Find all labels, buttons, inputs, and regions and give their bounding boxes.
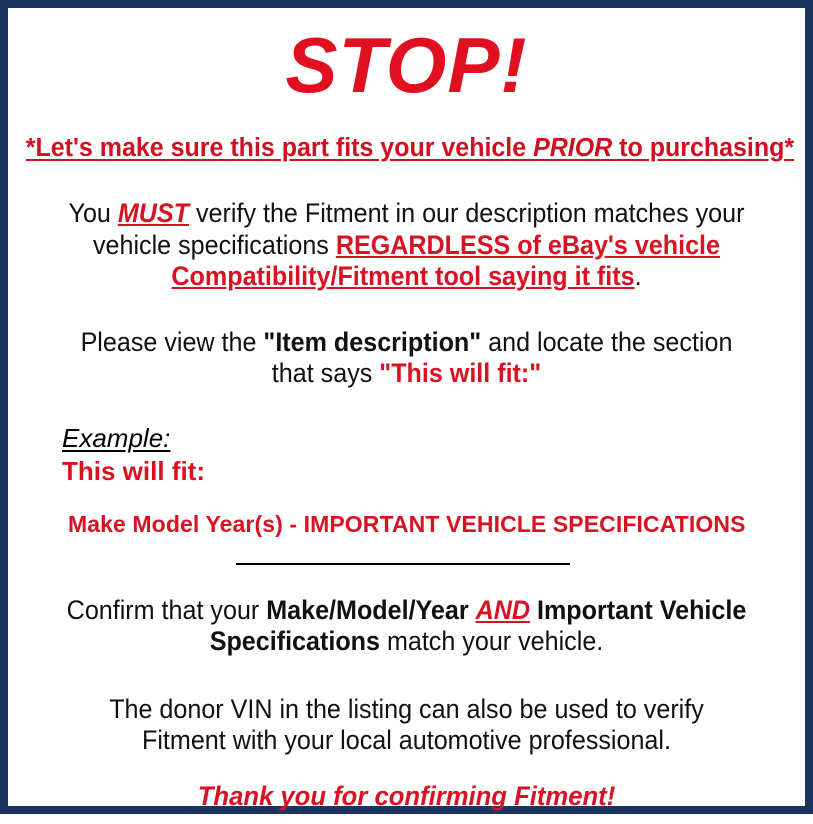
- subtitle-prior-emphasis: PRIOR: [533, 134, 612, 162]
- notice-content: STOP! *Let's make sure this part fits yo…: [8, 26, 805, 824]
- example-label: Example:: [62, 424, 170, 454]
- and-emphasis: AND: [476, 595, 530, 625]
- confirm-text-part2: match your vehicle.: [380, 626, 603, 656]
- this-will-fit-emphasis: "This will fit:": [379, 358, 541, 388]
- subtitle-line: *Let's make sure this part fits your veh…: [26, 134, 787, 162]
- paragraph-item-description: Please view the "Item description" and l…: [45, 327, 768, 390]
- make-model-year-emphasis: Make/Model/Year: [266, 595, 468, 625]
- confirm-text-part1: Confirm that your: [67, 595, 267, 625]
- horizontal-divider: [236, 563, 570, 565]
- view-text-part1: Please view the: [81, 327, 264, 357]
- fitment-notice-card: STOP! *Let's make sure this part fits yo…: [0, 0, 813, 814]
- example-block: Example: This will fit: Make Model Year(…: [18, 424, 795, 539]
- thank-you-line: Thank you for confirming Fitment!: [37, 781, 775, 812]
- paragraph-confirm: Confirm that your Make/Model/Year AND Im…: [45, 595, 768, 658]
- example-this-will-fit: This will fit:: [62, 456, 795, 487]
- divider-wrap: [18, 561, 795, 565]
- paragraph-must-verify: You MUST verify the Fitment in our descr…: [45, 198, 768, 293]
- item-description-emphasis: "Item description": [263, 327, 481, 357]
- example-spec-line: Make Model Year(s) - IMPORTANT VEHICLE S…: [62, 511, 795, 539]
- must-text-part1: You: [69, 198, 118, 228]
- stop-heading: STOP!: [18, 26, 795, 104]
- must-emphasis: MUST: [118, 198, 189, 228]
- paragraph-donor-vin: The donor VIN in the listing can also be…: [45, 694, 768, 757]
- subtitle-after: to purchasing*: [612, 134, 794, 162]
- must-text-part3: .: [635, 261, 642, 291]
- subtitle-before: *Let's make sure this part fits your veh…: [26, 134, 533, 162]
